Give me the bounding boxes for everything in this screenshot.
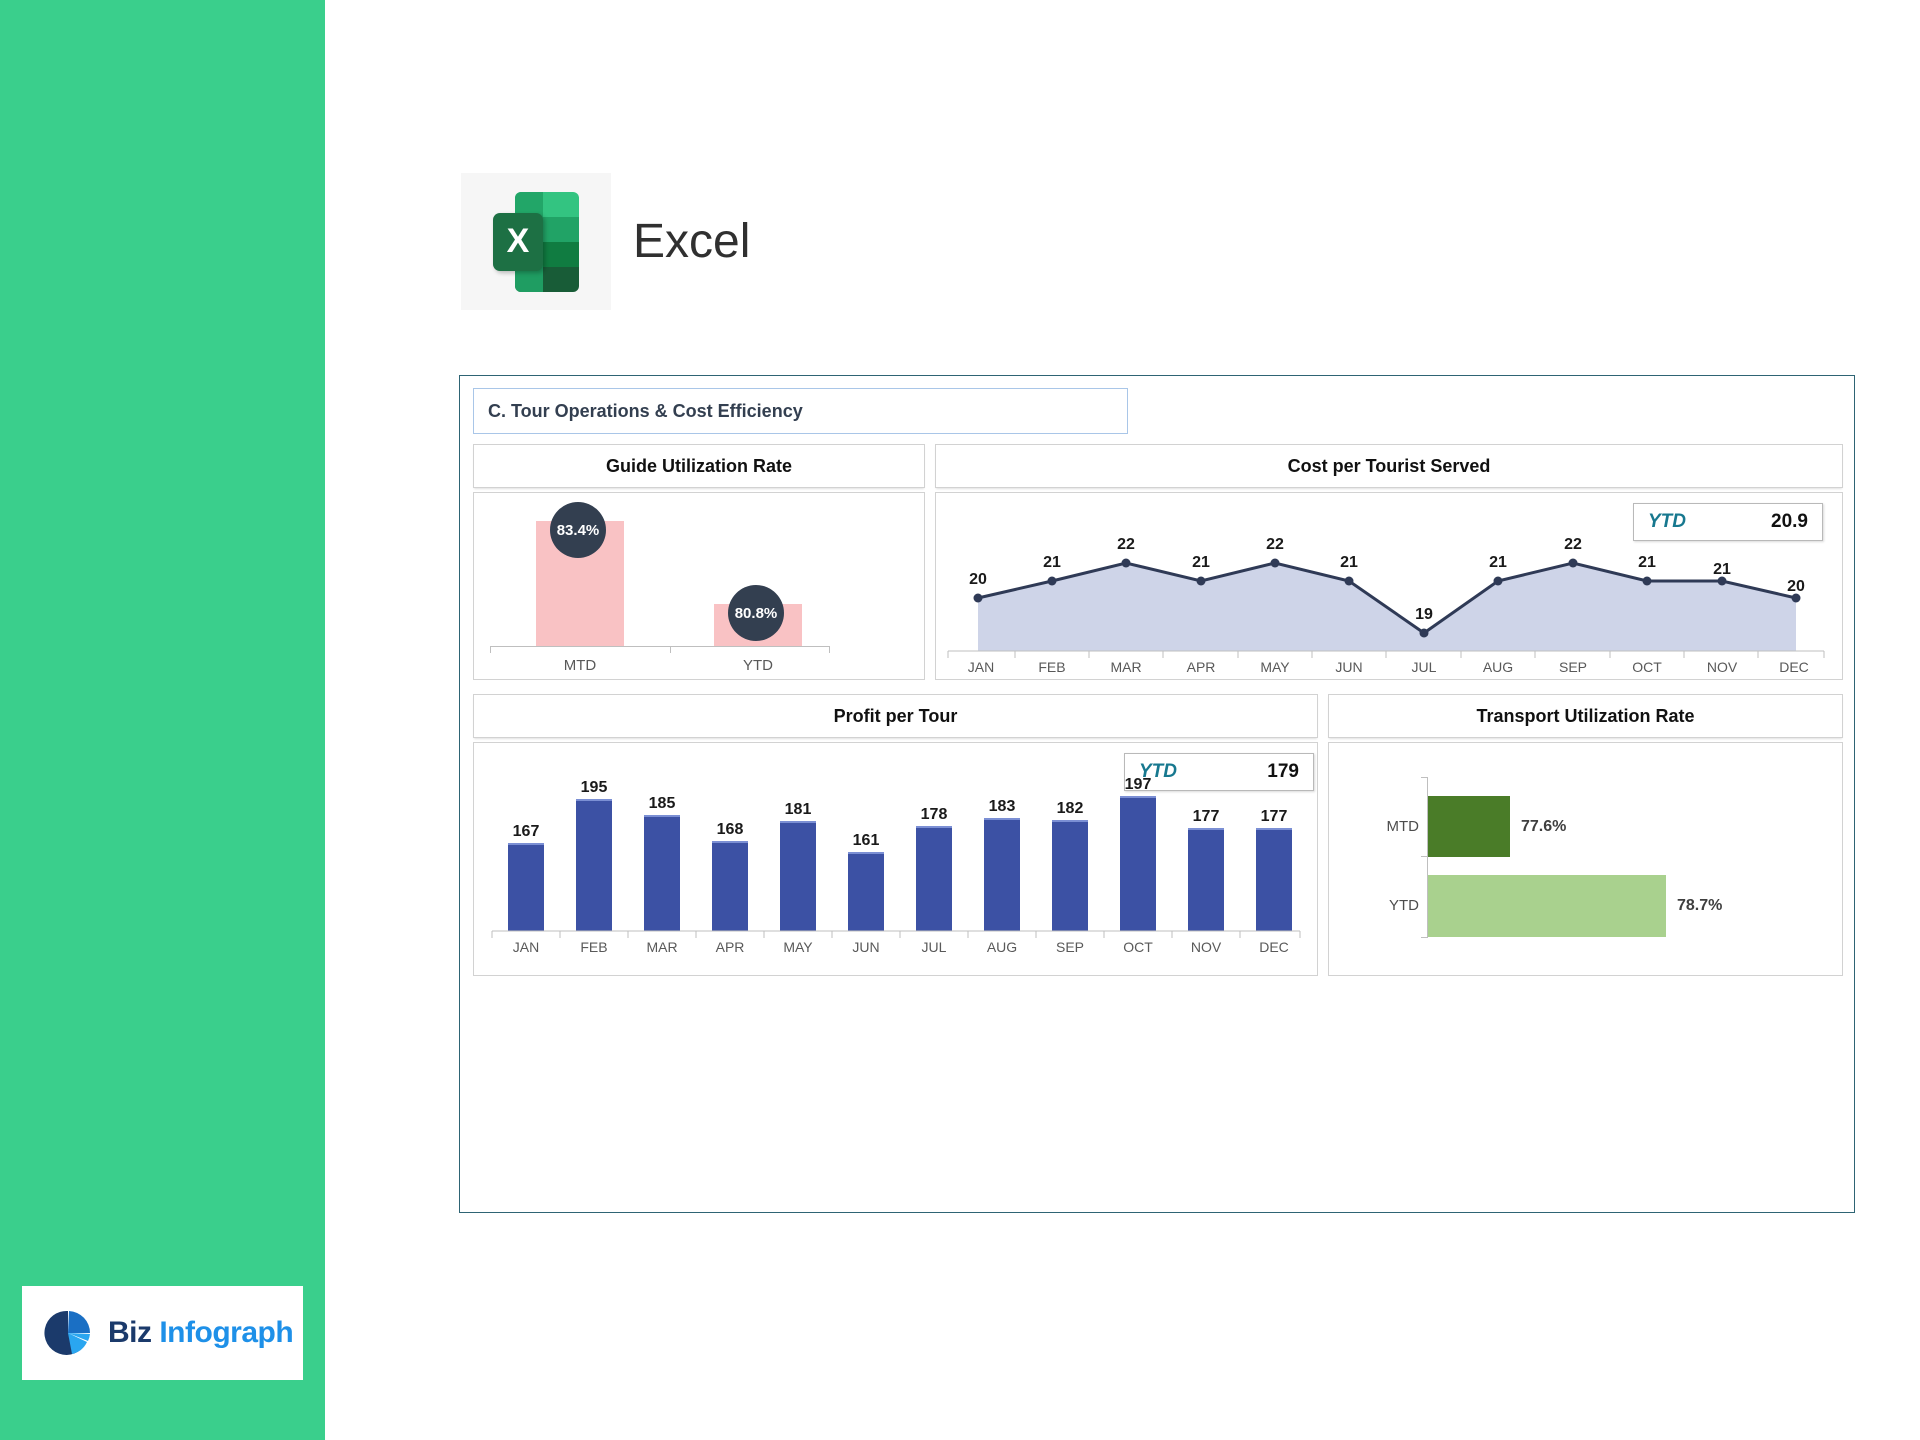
profit-xlabel-nov: NOV	[1191, 939, 1221, 955]
cost-label-oct: 21	[1638, 554, 1656, 572]
cost-per-tourist-card-header[interactable]: Cost per Tourist Served	[935, 444, 1843, 488]
cost-label-feb: 21	[1043, 554, 1061, 572]
section-title-box[interactable]: C. Tour Operations & Cost Efficiency	[473, 388, 1128, 434]
biz-infograph-logo: Biz Infograph	[22, 1286, 303, 1380]
cost-xlabel-dec: DEC	[1779, 659, 1809, 675]
logo-word-biz: Biz	[108, 1316, 152, 1349]
logo-word-infograph: Infograph	[159, 1316, 293, 1349]
transport-axis-tick-bottom	[1421, 937, 1428, 938]
guide-xlabel-mtd: MTD	[540, 657, 620, 674]
cost-xlabel-may: MAY	[1260, 659, 1289, 675]
cost-per-tourist-plot-area	[936, 493, 1842, 679]
guide-utilization-title: Guide Utilization Rate	[606, 456, 792, 477]
cost-xlabel-sep: SEP	[1559, 659, 1587, 675]
cost-xlabel-aug: AUG	[1483, 659, 1513, 675]
profit-per-tour-chart: YTD 179 167 195 185 168 181 161 178 183 …	[473, 742, 1318, 976]
cost-label-may: 22	[1266, 536, 1284, 554]
cost-xlabel-mar: MAR	[1110, 659, 1141, 675]
profit-xlabel-may: MAY	[783, 939, 812, 955]
cost-xlabel-feb: FEB	[1038, 659, 1065, 675]
profit-xlabel-jun: JUN	[852, 939, 879, 955]
profit-per-tour-card-header[interactable]: Profit per Tour	[473, 694, 1318, 738]
cost-label-aug: 21	[1489, 554, 1507, 572]
cost-per-tourist-title: Cost per Tourist Served	[1288, 456, 1491, 477]
cost-xlabel-jan: JAN	[968, 659, 994, 675]
transport-ylabel-ytd: YTD	[1349, 897, 1419, 914]
cost-per-tourist-chart: YTD 20.9	[935, 492, 1843, 680]
profit-xlabel-jan: JAN	[513, 939, 539, 955]
left-green-rail	[0, 0, 325, 1440]
transport-bar-mtd[interactable]	[1428, 796, 1510, 857]
cost-label-sep: 22	[1564, 536, 1582, 554]
guide-utilization-chart: 83.4% 80.8% MTD YTD	[473, 492, 925, 680]
cost-label-jan: 20	[969, 571, 987, 589]
profit-per-tour-title: Profit per Tour	[834, 706, 958, 727]
profit-xlabel-sep: SEP	[1056, 939, 1084, 955]
cost-label-jun: 21	[1340, 554, 1358, 572]
guide-value-bubble-ytd: 80.8%	[728, 585, 784, 641]
profit-xlabel-feb: FEB	[580, 939, 607, 955]
cost-xlabel-jun: JUN	[1335, 659, 1362, 675]
app-title: Excel	[633, 214, 750, 269]
excel-x-badge: X	[493, 213, 543, 271]
cost-label-jul: 19	[1415, 606, 1433, 624]
profit-xlabel-apr: APR	[716, 939, 745, 955]
transport-utilization-chart: MTD 77.6% YTD 78.7%	[1328, 742, 1843, 976]
transport-axis-tick-mid	[1421, 856, 1428, 857]
cost-label-mar: 22	[1117, 536, 1135, 554]
guide-xlabel-ytd: YTD	[718, 657, 798, 674]
transport-bar-ytd[interactable]	[1428, 875, 1666, 937]
pie-chart-icon	[42, 1307, 94, 1359]
cost-xlabel-apr: APR	[1187, 659, 1216, 675]
transport-ylabel-mtd: MTD	[1349, 818, 1419, 835]
profit-xlabel-jul: JUL	[922, 939, 947, 955]
excel-icon: X	[493, 192, 579, 292]
cost-label-dec: 20	[1787, 578, 1805, 596]
cost-label-nov: 21	[1713, 561, 1731, 579]
profit-xlabel-oct: OCT	[1123, 939, 1153, 955]
transport-axis-tick-top	[1421, 777, 1428, 778]
transport-utilization-title: Transport Utilization Rate	[1476, 706, 1694, 727]
section-title: C. Tour Operations & Cost Efficiency	[488, 401, 803, 422]
cost-xlabel-nov: NOV	[1707, 659, 1737, 675]
transport-value-mtd: 77.6%	[1521, 818, 1566, 836]
dashboard-panel: C. Tour Operations & Cost Efficiency Gui…	[459, 375, 1855, 1213]
guide-utilization-plot-area: 83.4% 80.8% MTD YTD	[474, 493, 924, 679]
cost-xlabel-oct: OCT	[1632, 659, 1662, 675]
profit-xlabel-mar: MAR	[646, 939, 677, 955]
guide-axis-tick-right	[829, 646, 830, 653]
cost-label-apr: 21	[1192, 554, 1210, 572]
transport-utilization-card-header[interactable]: Transport Utilization Rate	[1328, 694, 1843, 738]
guide-axis-tick-left	[490, 646, 491, 653]
guide-value-bubble-mtd: 83.4%	[550, 502, 606, 558]
guide-axis-line	[490, 646, 830, 647]
excel-brand-header: X Excel	[461, 173, 750, 310]
profit-xlabel-dec: DEC	[1259, 939, 1289, 955]
excel-icon-container: X	[461, 173, 611, 310]
transport-value-ytd: 78.7%	[1677, 897, 1722, 915]
cost-xlabel-jul: JUL	[1412, 659, 1437, 675]
guide-axis-tick-mid	[670, 646, 671, 653]
profit-xlabel-aug: AUG	[987, 939, 1017, 955]
guide-utilization-card-header[interactable]: Guide Utilization Rate	[473, 444, 925, 488]
cost-axis-ticks	[948, 651, 1824, 658]
logo-wordmark: Biz Infograph	[108, 1316, 293, 1350]
